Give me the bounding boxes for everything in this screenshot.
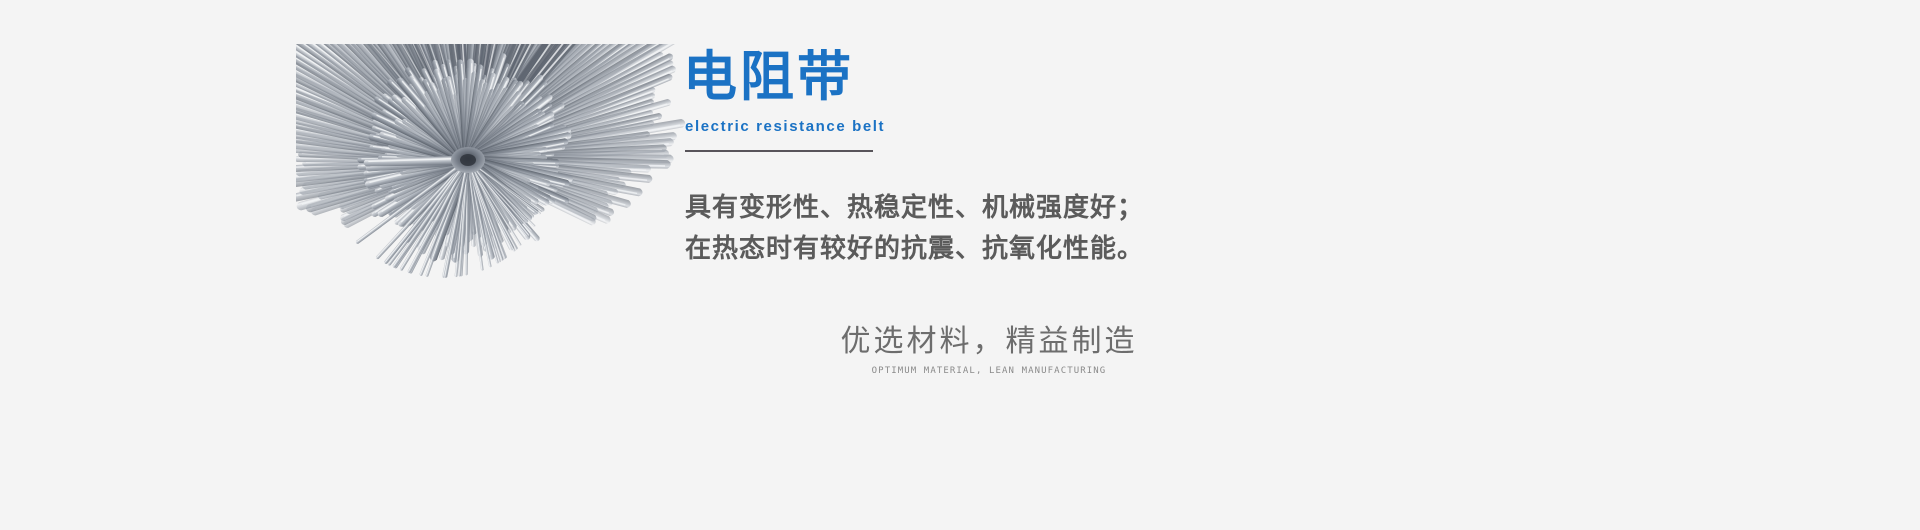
- page-subtitle: electric resistance belt: [685, 117, 885, 137]
- description-line-1: 具有变形性、热稳定性、机械强度好；: [685, 188, 1245, 229]
- resistance-belt-illustration: [296, 44, 688, 514]
- title-divider: [685, 150, 873, 152]
- product-image: [296, 44, 688, 514]
- tagline-english: OPTIMUM MATERIAL, LEAN MANUFACTURING: [779, 365, 1199, 377]
- page-title: 电阻带: [683, 47, 854, 107]
- product-banner: 电阻带 electric resistance belt 具有变形性、热稳定性、…: [0, 0, 1920, 530]
- tagline-chinese: 优选材料，精益制造: [779, 322, 1199, 362]
- description-line-2: 在热态时有较好的抗震、抗氧化性能。: [685, 229, 1245, 270]
- description-block: 具有变形性、热稳定性、机械强度好； 在热态时有较好的抗震、抗氧化性能。: [685, 188, 1245, 270]
- text-column: 电阻带 electric resistance belt 具有变形性、热稳定性、…: [683, 0, 1443, 530]
- tagline-block: 优选材料，精益制造 OPTIMUM MATERIAL, LEAN MANUFAC…: [779, 322, 1199, 377]
